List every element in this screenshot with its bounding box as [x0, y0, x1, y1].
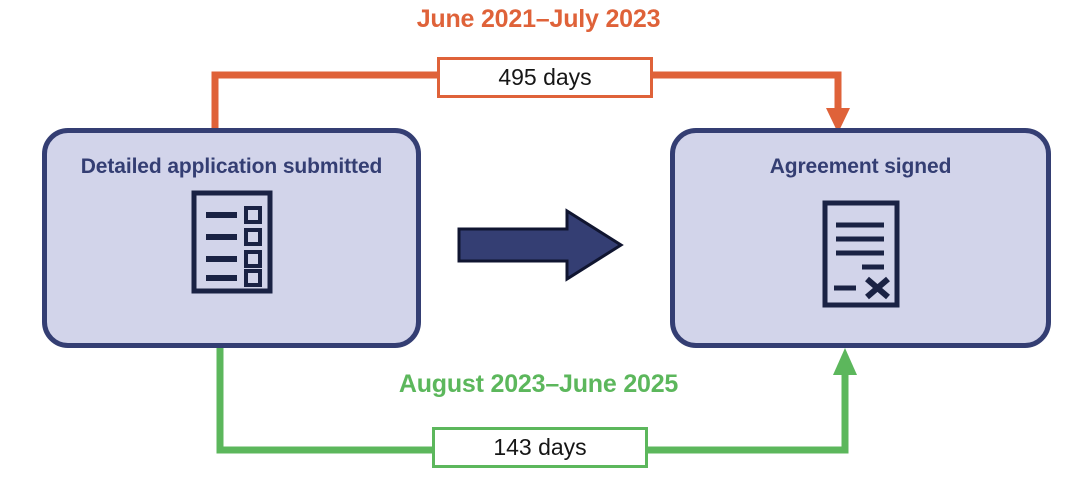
duration-label-bottom: 143 days: [432, 427, 648, 468]
duration-value-top: 495 days: [498, 64, 591, 91]
process-flow-diagram: June 2021–July 2023 August 2023–June 202…: [0, 0, 1077, 484]
stage-title-right: Agreement signed: [770, 154, 952, 180]
stage-box-agreement-signed: Agreement signed: [670, 128, 1051, 348]
stage-box-application-submitted: Detailed application submitted: [42, 128, 421, 348]
duration-value-bottom: 143 days: [493, 434, 586, 461]
stage-title-left: Detailed application submitted: [81, 154, 383, 180]
green-arrowhead-icon: [833, 348, 857, 375]
duration-label-top: 495 days: [437, 57, 653, 98]
right-arrow-icon: [455, 205, 625, 285]
signed-document-icon: [822, 200, 900, 313]
checklist-icon: [191, 190, 273, 299]
